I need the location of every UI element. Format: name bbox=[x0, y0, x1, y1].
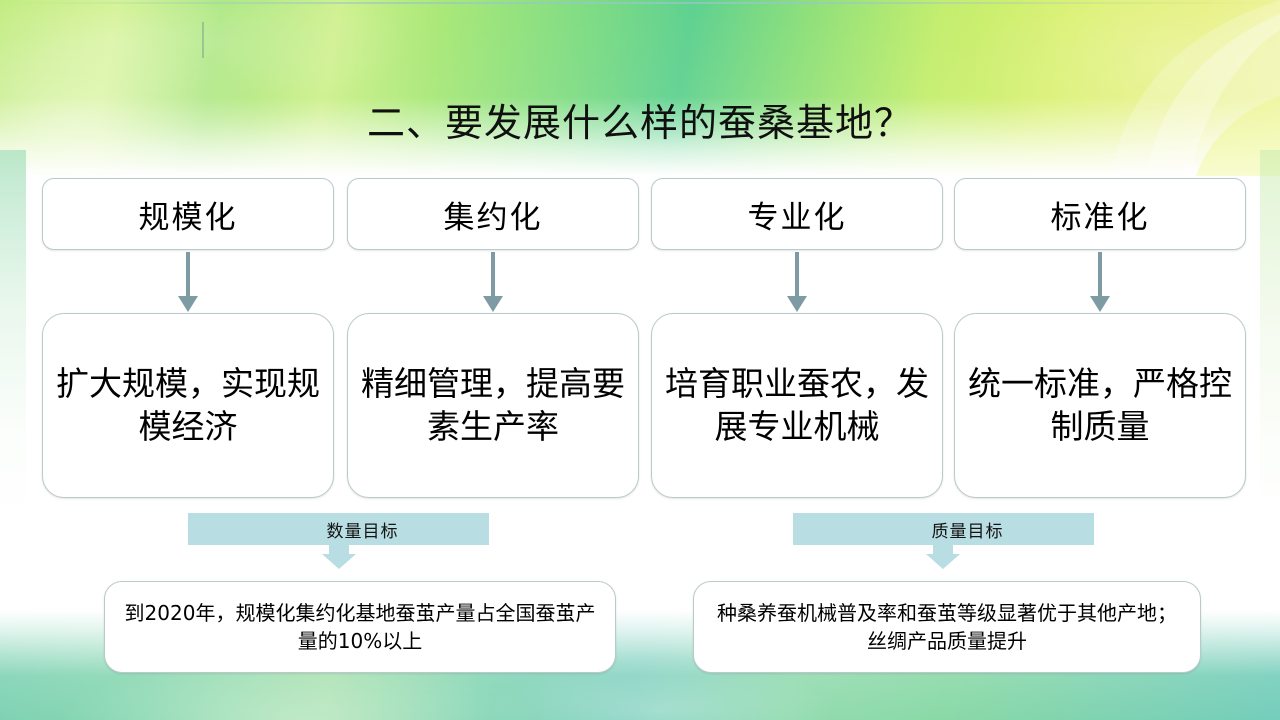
head-card-2-label: 集约化 bbox=[348, 192, 638, 237]
goal-detail-card-1[interactable]: 到2020年，规模化集约化基地蚕茧产量占全国蚕茧产量的10%以上 bbox=[104, 581, 616, 673]
head-card-1[interactable]: 规模化 bbox=[42, 178, 334, 250]
body-card-2[interactable]: 精细管理，提高要素生产率 bbox=[347, 313, 639, 498]
head-card-4-label: 标准化 bbox=[955, 192, 1245, 237]
body-card-3[interactable]: 培育职业蚕农，发展专业机械 bbox=[651, 313, 943, 498]
goal-banner-2[interactable]: 质量目标 bbox=[793, 513, 1094, 545]
head-card-1-label: 规模化 bbox=[43, 192, 333, 237]
goal-banner-1[interactable]: 数量目标 bbox=[188, 513, 489, 545]
body-card-1[interactable]: 扩大规模，实现规模经济 bbox=[42, 313, 334, 498]
body-card-4[interactable]: 统一标准，严格控制质量 bbox=[954, 313, 1246, 498]
background-right-edge-tint bbox=[1260, 150, 1280, 670]
body-card-3-text: 培育职业蚕农，发展专业机械 bbox=[664, 363, 930, 447]
down-arrow-icon-1 bbox=[175, 252, 201, 314]
head-card-3[interactable]: 专业化 bbox=[651, 178, 943, 250]
body-card-2-text: 精细管理，提高要素生产率 bbox=[360, 363, 626, 447]
banner-tail-arrow-icon-1 bbox=[322, 545, 356, 569]
background-top-gradient bbox=[0, 0, 1280, 176]
down-arrow-icon-2 bbox=[480, 252, 506, 314]
body-card-4-text: 统一标准，严格控制质量 bbox=[967, 363, 1233, 447]
head-card-3-label: 专业化 bbox=[652, 192, 942, 237]
head-card-4[interactable]: 标准化 bbox=[954, 178, 1246, 250]
down-arrow-icon-3 bbox=[784, 252, 810, 314]
goal-detail-card-2[interactable]: 种桑养蚕机械普及率和蚕茧等级显著优于其他产地；丝绸产品质量提升 bbox=[693, 581, 1201, 673]
background-tick-mark bbox=[202, 22, 204, 58]
goal-detail-card-2-text: 种桑养蚕机械普及率和蚕茧等级显著优于其他产地；丝绸产品质量提升 bbox=[710, 599, 1184, 656]
background-left-edge-tint bbox=[0, 150, 26, 650]
head-card-2[interactable]: 集约化 bbox=[347, 178, 639, 250]
goal-detail-card-1-text: 到2020年，规模化集约化基地蚕茧产量占全国蚕茧产量的10%以上 bbox=[121, 599, 599, 656]
body-card-1-text: 扩大规模，实现规模经济 bbox=[55, 363, 321, 447]
slide-canvas: 二、要发展什么样的蚕桑基地？ 规模化 集约化 专业化 标准化 bbox=[0, 0, 1280, 720]
page-title: 二、要发展什么样的蚕桑基地？ bbox=[0, 92, 1280, 147]
banner-tail-arrow-icon-2 bbox=[926, 545, 960, 569]
goal-banner-1-label: 数量目标 bbox=[327, 517, 399, 542]
down-arrow-icon-4 bbox=[1087, 252, 1113, 314]
goal-banner-2-label: 质量目标 bbox=[932, 517, 1004, 542]
background-top-seam-line bbox=[0, 2, 1280, 4]
